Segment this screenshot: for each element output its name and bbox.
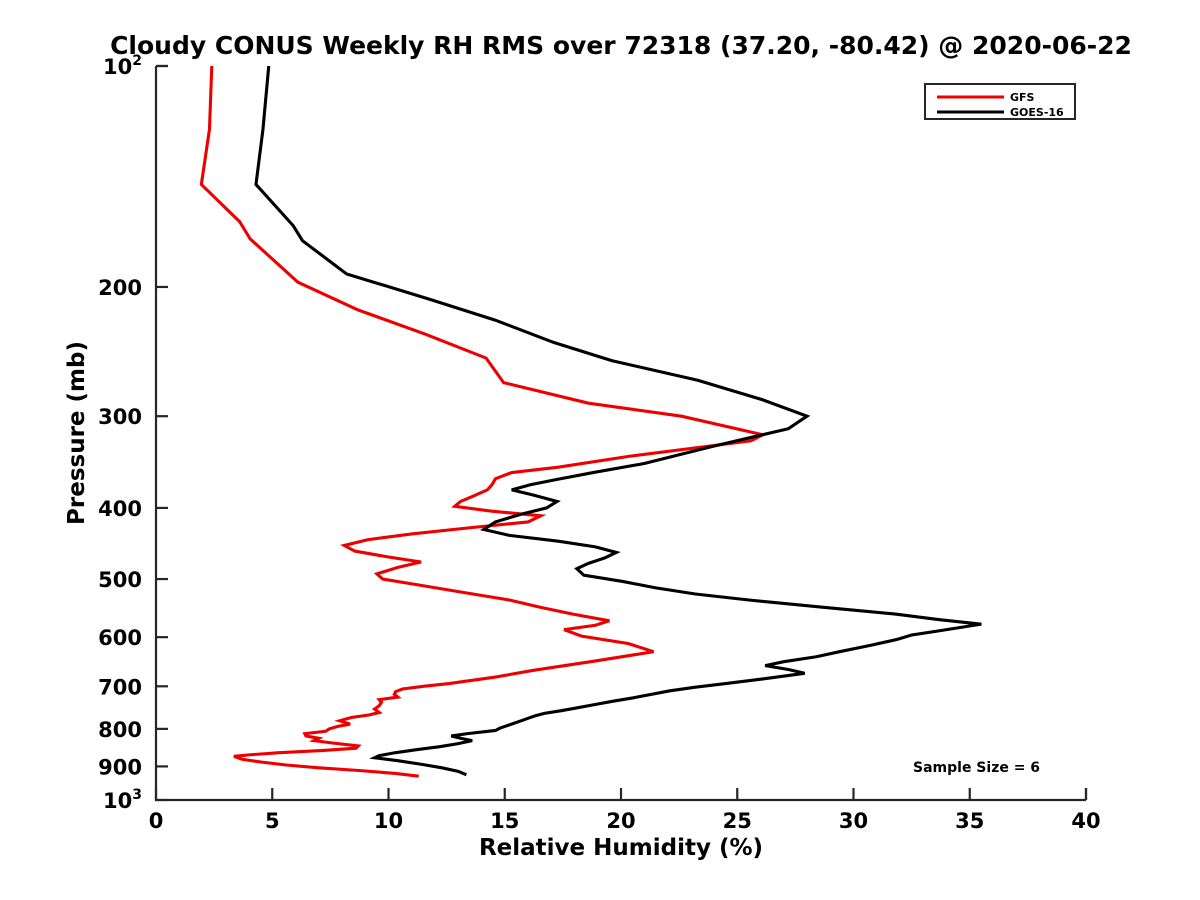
- axis-spines: [156, 66, 1086, 800]
- series-line-goes-16: [256, 66, 981, 775]
- y-tick-label: 900: [98, 755, 142, 779]
- y-axis-ticks: 102200300400500600700800900103: [98, 53, 168, 813]
- y-tick-label: 102: [103, 53, 142, 79]
- x-tick-label: 0: [149, 809, 164, 833]
- y-tick-label: 600: [98, 626, 142, 650]
- x-tick-label: 35: [955, 809, 984, 833]
- legend-label-gfs: GFS: [1010, 91, 1035, 104]
- y-tick-label: 400: [98, 497, 142, 521]
- x-tick-label: 20: [606, 809, 635, 833]
- y-tick-label: 300: [98, 405, 142, 429]
- y-tick-label: 800: [98, 718, 142, 742]
- chart-title: Cloudy CONUS Weekly RH RMS over 72318 (3…: [110, 31, 1132, 60]
- legend-label-goes-16: GOES-16: [1010, 106, 1064, 119]
- x-tick-label: 25: [723, 809, 752, 833]
- rh-rms-profile-chart: Cloudy CONUS Weekly RH RMS over 72318 (3…: [0, 0, 1200, 900]
- x-tick-label: 40: [1071, 809, 1100, 833]
- x-tick-label: 5: [265, 809, 280, 833]
- x-axis-label: Relative Humidity (%): [479, 835, 763, 861]
- x-tick-label: 30: [839, 809, 868, 833]
- x-axis-ticks: 0510152025303540: [149, 788, 1101, 833]
- legend[interactable]: GFSGOES-16: [925, 84, 1075, 119]
- sample-size-annotation: Sample Size = 6: [913, 760, 1040, 776]
- series-line-gfs: [201, 66, 762, 776]
- chart-figure: Cloudy CONUS Weekly RH RMS over 72318 (3…: [0, 0, 1200, 900]
- data-series-group: [201, 66, 981, 776]
- y-tick-label: 700: [98, 675, 142, 699]
- x-tick-label: 15: [490, 809, 519, 833]
- y-tick-label: 103: [103, 787, 142, 813]
- y-axis-label: Pressure (mb): [64, 341, 90, 525]
- y-tick-label: 500: [98, 568, 142, 592]
- y-tick-label: 200: [98, 276, 142, 300]
- x-tick-label: 10: [374, 809, 403, 833]
